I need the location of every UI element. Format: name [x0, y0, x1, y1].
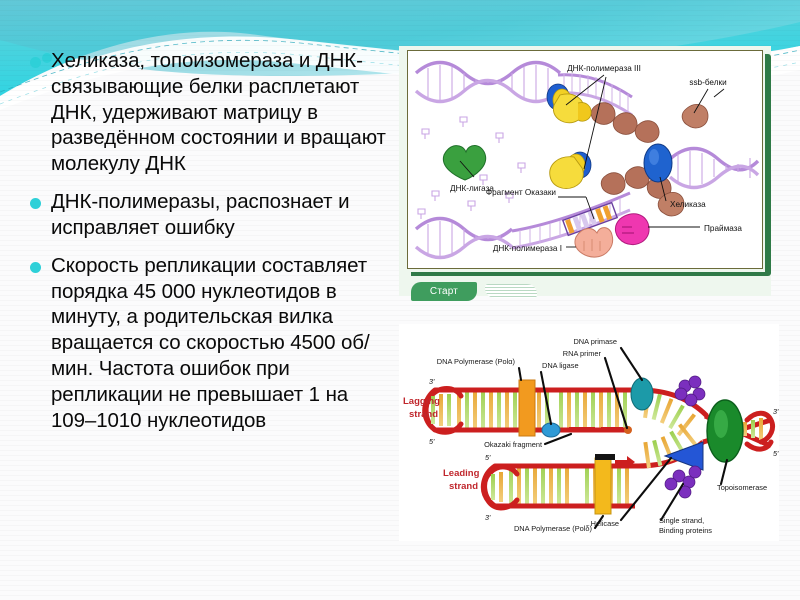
- label-helicase: Helicase: [591, 519, 619, 528]
- figure-replication-fork-ru: ДНК-полимераза III ssb-белки ДНК-лигаза …: [399, 46, 771, 296]
- start-button[interactable]: Старт: [411, 282, 477, 301]
- label-lagging-strand-line1: Lagging: [403, 396, 440, 407]
- dna-polymerase-iii-lower-icon: [550, 152, 591, 189]
- bullet-text: Скорость репликации составляет порядка 4…: [51, 253, 398, 434]
- label-okazaki-fragment: Okazaki fragment: [484, 440, 542, 449]
- helicase-icon: [644, 144, 672, 182]
- figure-replication-fork-en: DNA Polymerase (Polα) DNA ligase DNA pri…: [399, 324, 779, 541]
- bullet-text: ДНК-полимеразы, распознает и исправляет …: [51, 189, 398, 241]
- figure-top-panel: ДНК-полимераза III ssb-белки ДНК-лигаза …: [407, 50, 763, 269]
- label-dna-polymerase-iii: ДНК-полимераза III: [567, 64, 641, 73]
- dna-polymerase-delta-block-icon: [595, 458, 611, 514]
- helicase-icon: [665, 442, 703, 470]
- label-prime-5-lagging-bottom: 5': [429, 437, 435, 446]
- list-item: Хеликаза, топоизомераза и ДНК-связывающи…: [30, 48, 398, 177]
- label-dna-polymerase-alpha: DNA Polymerase (Polα): [437, 357, 515, 366]
- label-ssb-line1: Single strand,: [659, 516, 704, 525]
- leading-strand-group: [483, 423, 703, 508]
- label-ssb-proteins: ssb-белки: [689, 78, 726, 87]
- bullet-text: Хеликаза, топоизомераза и ДНК-связывающи…: [51, 48, 398, 177]
- slide-canvas: Хеликаза, топоизомераза и ДНК-связывающи…: [0, 0, 800, 600]
- list-item: Скорость репликации составляет порядка 4…: [30, 253, 398, 434]
- label-dna-polymerase-delta: DNA Polymerase (Polδ): [514, 524, 592, 533]
- replication-fork-diagram-en: DNA Polymerase (Polα) DNA ligase DNA pri…: [399, 324, 779, 541]
- dna-strand-right: [670, 149, 758, 188]
- label-prime-3-lagging-top: 3': [429, 377, 435, 386]
- label-ssb-line2: Binding proteins: [659, 526, 712, 535]
- replication-fork-diagram-ru: ДНК-полимераза III ssb-белки ДНК-лигаза …: [408, 51, 762, 268]
- list-item: ДНК-полимеразы, распознает и исправляет …: [30, 189, 398, 241]
- dna-ligase-ellipse-icon: [542, 423, 560, 437]
- polymerase-delta-cap: [595, 454, 615, 460]
- dna-ligase-block-icon: [519, 380, 535, 436]
- figure-top-frame-bottom: [411, 272, 767, 276]
- figure-top-frame-right: [765, 54, 771, 276]
- label-dna-ligase: DNA ligase: [542, 361, 579, 370]
- label-leading-strand-line2: strand: [449, 481, 478, 492]
- label-primase: Праймаза: [704, 224, 742, 233]
- label-lagging-strand-line2: strand: [409, 409, 438, 420]
- bullet-list: Хеликаза, топоизомераза и ДНК-связывающи…: [30, 48, 398, 446]
- label-topoisomerase: Topoisomerase: [717, 483, 767, 492]
- dna-primase-icon: [631, 378, 653, 410]
- dna-ligase-icon: [443, 145, 485, 180]
- bullet-dot-icon: [30, 198, 41, 209]
- label-rna-primer: RNA primer: [563, 349, 602, 358]
- bullet-dot-icon: [30, 57, 41, 68]
- bullet-dot-icon: [30, 262, 41, 273]
- lagging-strand-group: [425, 388, 707, 436]
- label-okazaki-fragment: Фрагмент Оказаки: [486, 188, 556, 197]
- dna-polymerase-i-icon: [575, 228, 613, 258]
- label-prime-3-right: 3': [773, 407, 779, 416]
- label-leading-strand-line1: Leading: [443, 468, 480, 479]
- topoisomerase-icon: [707, 400, 743, 462]
- primase-icon: [615, 214, 649, 245]
- figure-top-decoration: [485, 284, 537, 298]
- label-helicase: Хеликаза: [670, 200, 706, 209]
- label-dna-polymerase-i: ДНК-полимераза I: [493, 244, 562, 253]
- label-prime-5-leading-top: 5': [485, 453, 491, 462]
- label-dna-primase: DNA primase: [573, 337, 617, 346]
- label-prime-5-right: 5': [773, 449, 779, 458]
- label-prime-3-leading-bottom: 3': [485, 513, 491, 522]
